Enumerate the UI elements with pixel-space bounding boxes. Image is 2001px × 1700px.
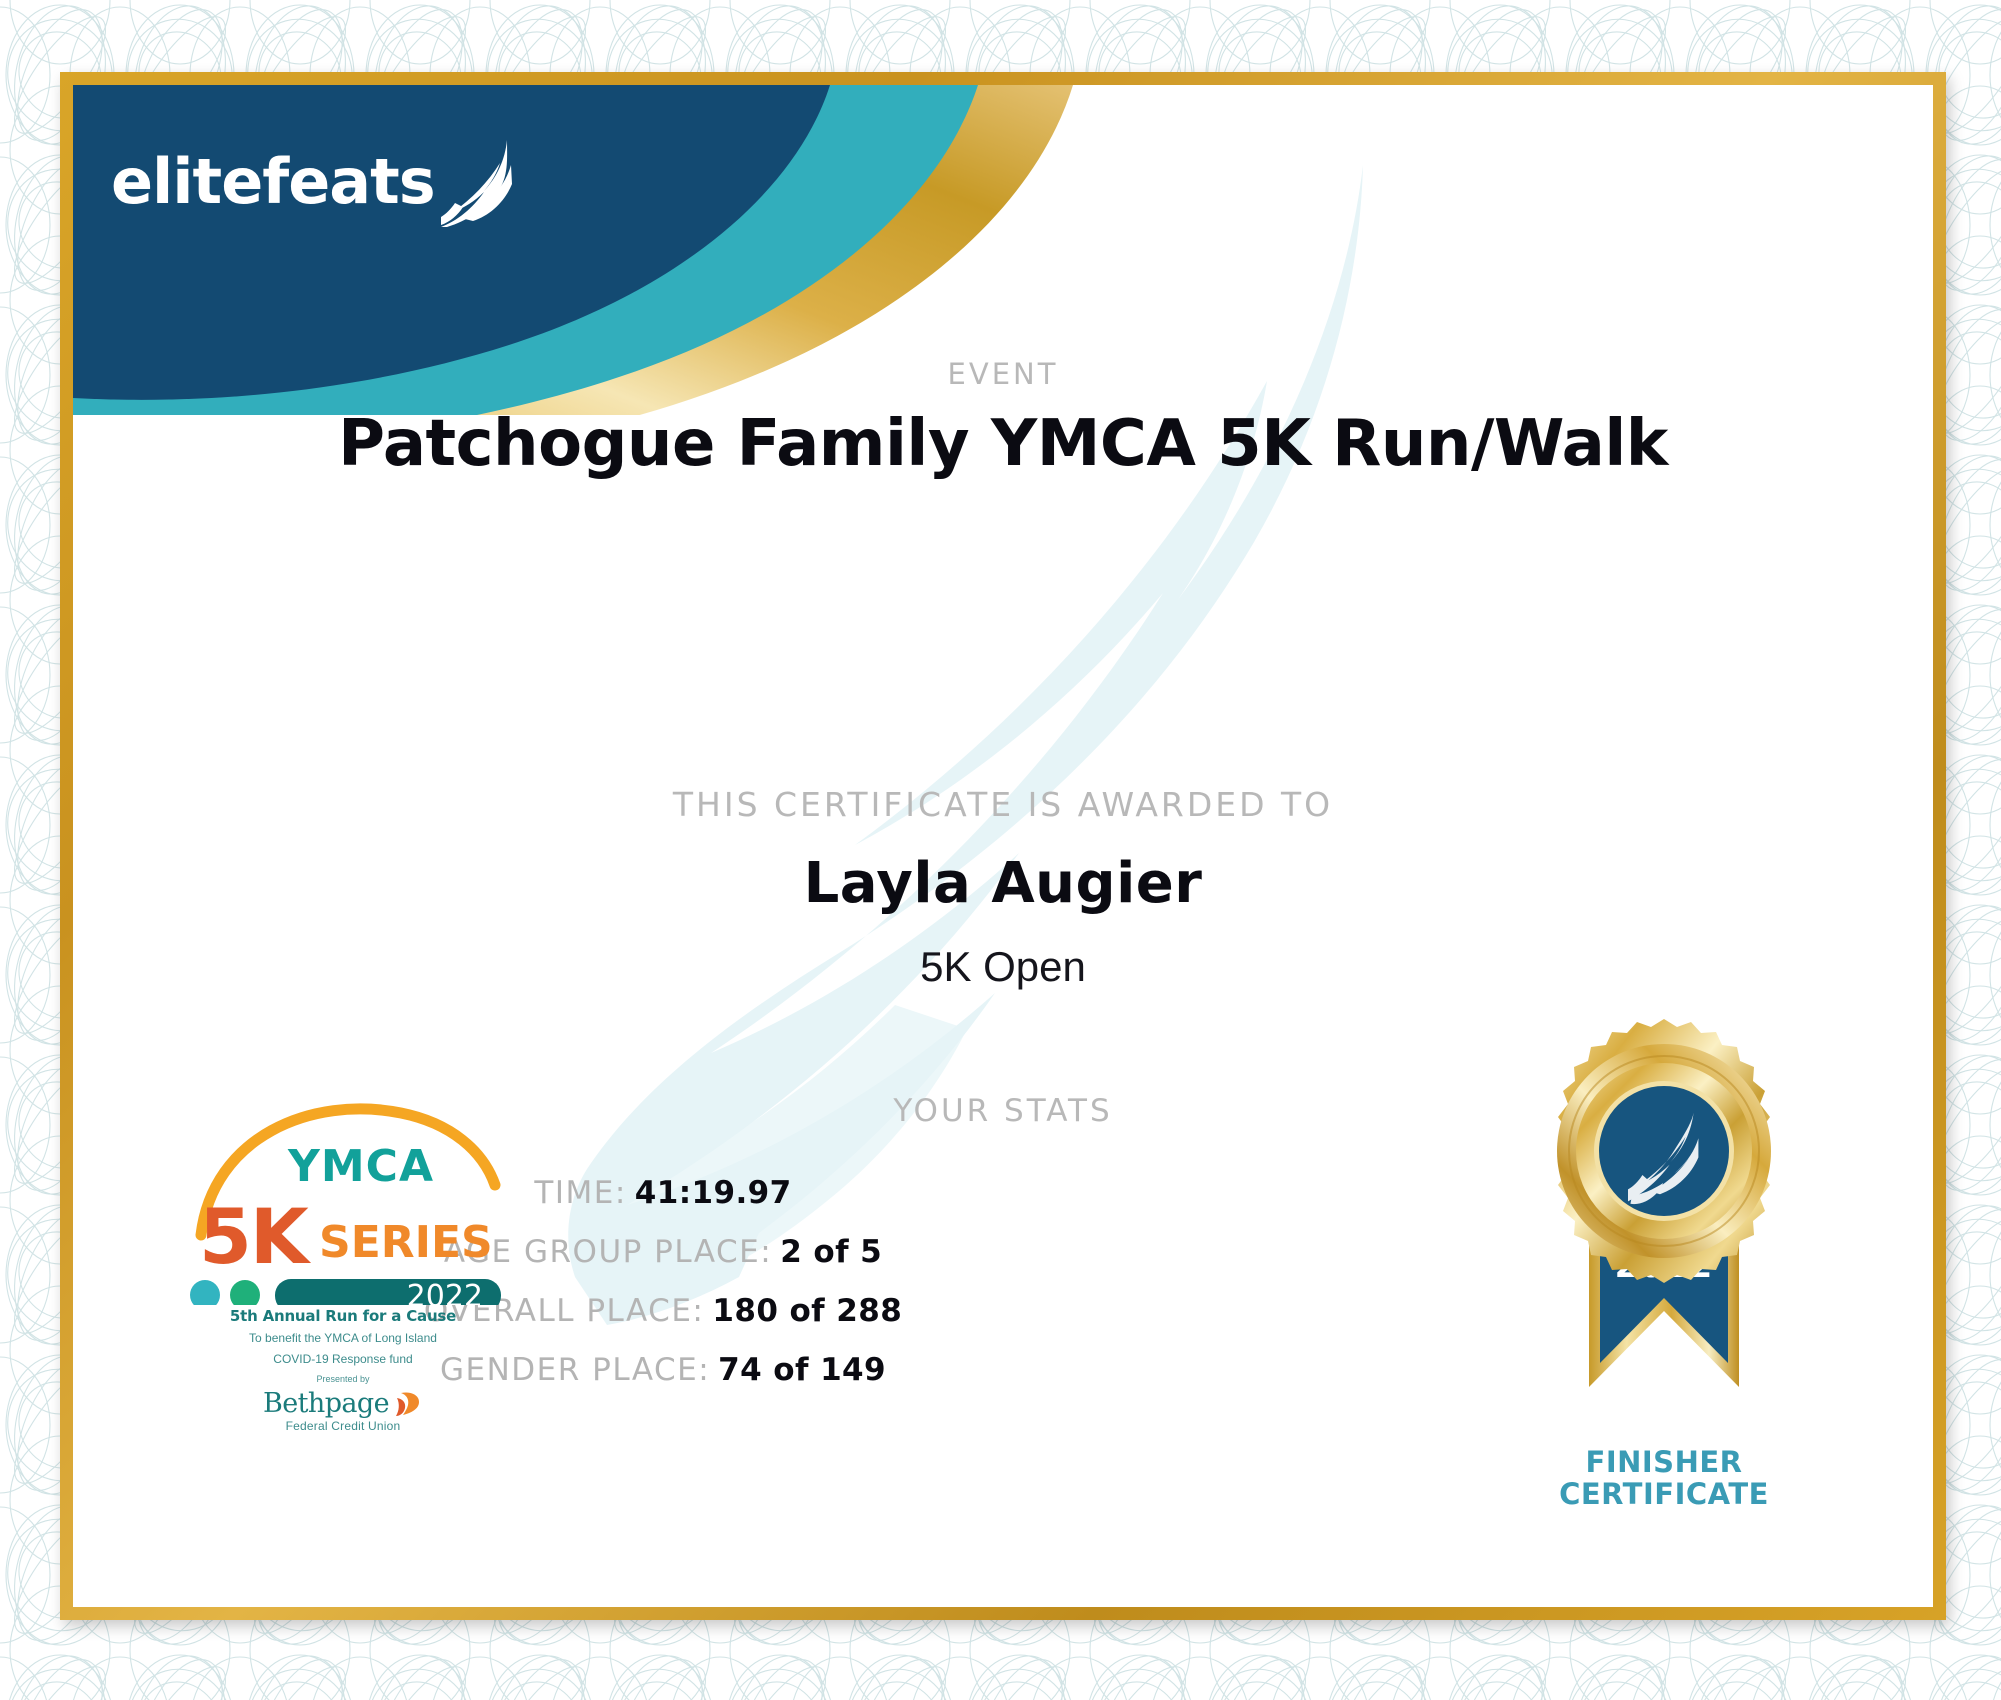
ymca-tagline: 5th Annual Run for a Cause: [183, 1307, 503, 1325]
certificate-page: elitefeats EVENT Patchogue Family YMCA 5…: [0, 0, 2001, 1700]
ymca-5k-series-logo: YMCA 5K SERIES 2022: [183, 1085, 503, 1433]
certificate-content: EVENT Patchogue Family YMCA 5K Run/Walk …: [73, 85, 1933, 1607]
seal-caption-line-2: CERTIFICATE: [1499, 1478, 1829, 1510]
ymca-series-word: SERIES: [319, 1217, 493, 1268]
stat-value-time: 41:19.97: [635, 1175, 792, 1211]
certificate-inner-card: elitefeats EVENT Patchogue Family YMCA 5…: [73, 85, 1933, 1607]
awarded-to-label: THIS CERTIFICATE IS AWARDED TO: [73, 785, 1933, 824]
bethpage-sub-label: Federal Credit Union: [183, 1419, 503, 1433]
ymca-caption-block: 5th Annual Run for a Cause To benefit th…: [183, 1307, 503, 1433]
ymca-arc-label: YMCA: [287, 1141, 434, 1192]
finisher-seal: 2022: [1499, 1015, 1829, 1511]
recipient-name: Layla Augier: [73, 851, 1933, 916]
rosette-center-disc: [1599, 1086, 1729, 1216]
bethpage-logo: Bethpage: [183, 1388, 503, 1419]
bethpage-b-icon: [393, 1389, 423, 1419]
event-label: EVENT: [73, 357, 1933, 391]
bethpage-wordmark: Bethpage: [263, 1388, 389, 1419]
ymca-year-badge: 2022: [407, 1279, 483, 1305]
gold-certificate-frame: elitefeats EVENT Patchogue Family YMCA 5…: [60, 72, 1946, 1620]
stat-value-overall-place: 180 of 288: [712, 1293, 902, 1329]
ymca-presented-by-label: Presented by: [183, 1374, 503, 1384]
stat-value-age-group-place: 2 of 5: [780, 1234, 882, 1270]
stat-key-time: TIME:: [534, 1175, 626, 1211]
gold-rosette-medal: 2022: [1499, 1015, 1829, 1435]
ymca-5k-number: 5K: [199, 1192, 312, 1281]
ymca-dot-teal: [190, 1280, 220, 1305]
event-title: Patchogue Family YMCA 5K Run/Walk: [73, 407, 1933, 481]
seal-caption-line-1: FINISHER: [1499, 1446, 1829, 1478]
ymca-benefit-line-2: COVID-19 Response fund: [183, 1352, 503, 1367]
ymca-dot-green: [230, 1280, 260, 1305]
seal-caption: FINISHER CERTIFICATE: [1499, 1446, 1829, 1511]
division-name: 5K Open: [73, 943, 1933, 991]
ymca-logo-graphic: YMCA 5K SERIES 2022: [183, 1085, 503, 1305]
ymca-benefit-line-1: To benefit the YMCA of Long Island: [183, 1331, 503, 1346]
stat-value-gender-place: 74 of 149: [718, 1352, 886, 1388]
